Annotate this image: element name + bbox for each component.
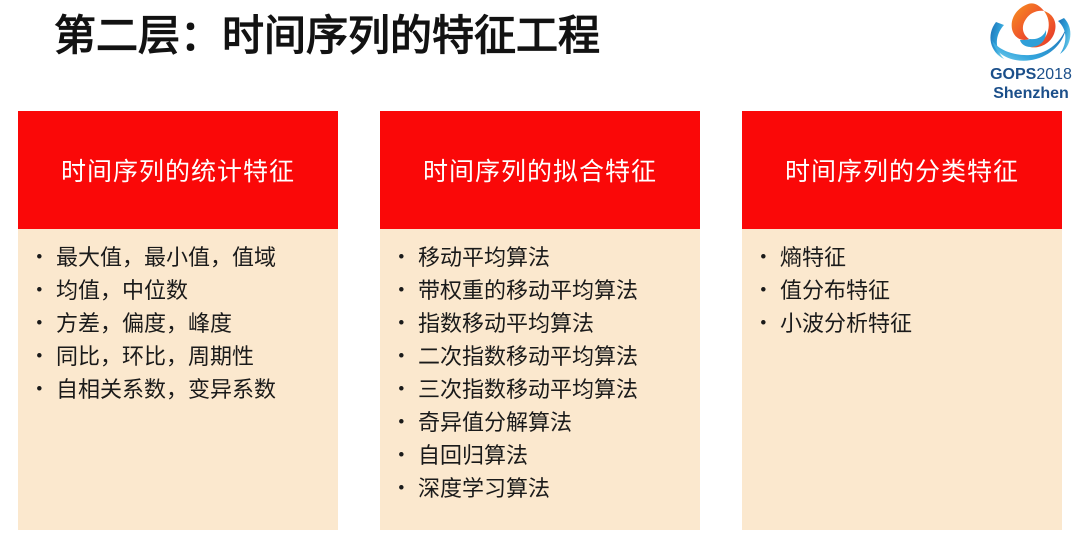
- column-classification-features: 时间序列的分类特征 熵特征 值分布特征 小波分析特征: [742, 111, 1062, 530]
- logo-city: Shenzhen: [984, 84, 1078, 103]
- column-body-statistical: 最大值，最小值，值域 均值，中位数 方差，偏度，峰度 同比，环比，周期性 自相关…: [18, 229, 338, 530]
- list-item: 小波分析特征: [742, 307, 1062, 340]
- column-statistical-features: 时间序列的统计特征 最大值，最小值，值域 均值，中位数 方差，偏度，峰度 同比，…: [18, 111, 338, 530]
- column-body-classification: 熵特征 值分布特征 小波分析特征: [742, 229, 1062, 530]
- feature-list-classification: 熵特征 值分布特征 小波分析特征: [742, 241, 1062, 340]
- feature-list-statistical: 最大值，最小值，值域 均值，中位数 方差，偏度，峰度 同比，环比，周期性 自相关…: [18, 241, 338, 406]
- logo-year: 2018: [1036, 66, 1072, 83]
- list-item: 自回归算法: [380, 439, 700, 472]
- list-item: 值分布特征: [742, 274, 1062, 307]
- column-fitting-features: 时间序列的拟合特征 移动平均算法 带权重的移动平均算法 指数移动平均算法 二次指…: [380, 111, 700, 530]
- list-item: 方差，偏度，峰度: [18, 307, 338, 340]
- list-item: 最大值，最小值，值域: [18, 241, 338, 274]
- feature-columns: 时间序列的统计特征 最大值，最小值，值域 均值，中位数 方差，偏度，峰度 同比，…: [18, 111, 1062, 530]
- list-item: 指数移动平均算法: [380, 307, 700, 340]
- list-item: 奇异值分解算法: [380, 406, 700, 439]
- list-item: 深度学习算法: [380, 472, 700, 505]
- list-item: 熵特征: [742, 241, 1062, 274]
- logo-brand: GOPS: [990, 66, 1036, 83]
- column-header-statistical: 时间序列的统计特征: [18, 111, 338, 229]
- column-body-fitting: 移动平均算法 带权重的移动平均算法 指数移动平均算法 二次指数移动平均算法 三次…: [380, 229, 700, 530]
- list-item: 移动平均算法: [380, 241, 700, 274]
- list-item: 三次指数移动平均算法: [380, 373, 700, 406]
- gops-logo: GOPS2018 Shenzhen: [984, 2, 1078, 108]
- column-header-fitting: 时间序列的拟合特征: [380, 111, 700, 229]
- list-item: 均值，中位数: [18, 274, 338, 307]
- list-item: 同比，环比，周期性: [18, 340, 338, 373]
- logo-text-block: GOPS2018 Shenzhen: [984, 65, 1078, 103]
- list-item: 二次指数移动平均算法: [380, 340, 700, 373]
- gops-swoosh-icon: [984, 2, 1078, 64]
- list-item: 带权重的移动平均算法: [380, 274, 700, 307]
- feature-list-fitting: 移动平均算法 带权重的移动平均算法 指数移动平均算法 二次指数移动平均算法 三次…: [380, 241, 700, 505]
- page-title: 第二层：时间序列的特征工程: [54, 8, 600, 64]
- list-item: 自相关系数，变异系数: [18, 373, 338, 406]
- column-header-classification: 时间序列的分类特征: [742, 111, 1062, 229]
